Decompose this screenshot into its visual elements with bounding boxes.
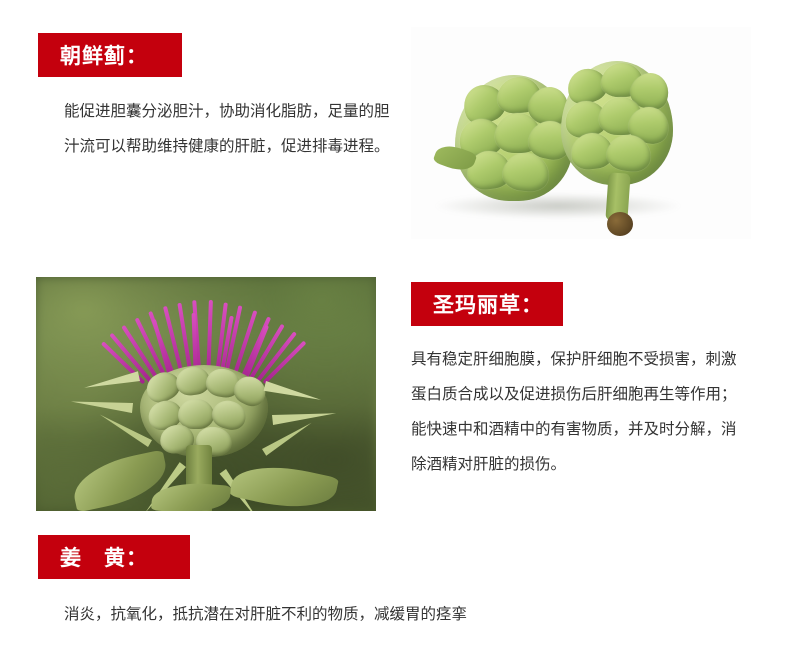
artichoke-illustration [411, 27, 751, 239]
section-body-milk-thistle: 具有稳定肝细胞膜，保护肝细胞不受损害，刺激蛋白质合成以及促进损伤后肝细胞再生等作… [411, 342, 741, 482]
section-heading-turmeric: 姜 黄： [38, 535, 190, 579]
ground-shadow [433, 193, 683, 219]
artichoke-photo [411, 27, 751, 239]
artichoke-stem-tip [607, 212, 633, 236]
product-detail-page: 朝鲜蓟： 能促进胆囊分泌胆汁，协助消化脂肪，足量的胆汁流可以帮助维持健康的肝脏，… [0, 0, 790, 669]
section-heading-artichoke: 朝鲜蓟： [38, 33, 182, 77]
milk-thistle-illustration [36, 277, 376, 511]
section-heading-milk-thistle: 圣玛丽草： [411, 282, 563, 326]
section-body-turmeric: 消炎，抗氧化，抵抗潜在对肝脏不利的物质，减缓胃的痉挛 [64, 597, 724, 632]
milk-thistle-photo [36, 277, 376, 511]
section-body-artichoke: 能促进胆囊分泌胆汁，协助消化脂肪，足量的胆汁流可以帮助维持健康的肝脏，促进排毒进… [64, 94, 394, 164]
